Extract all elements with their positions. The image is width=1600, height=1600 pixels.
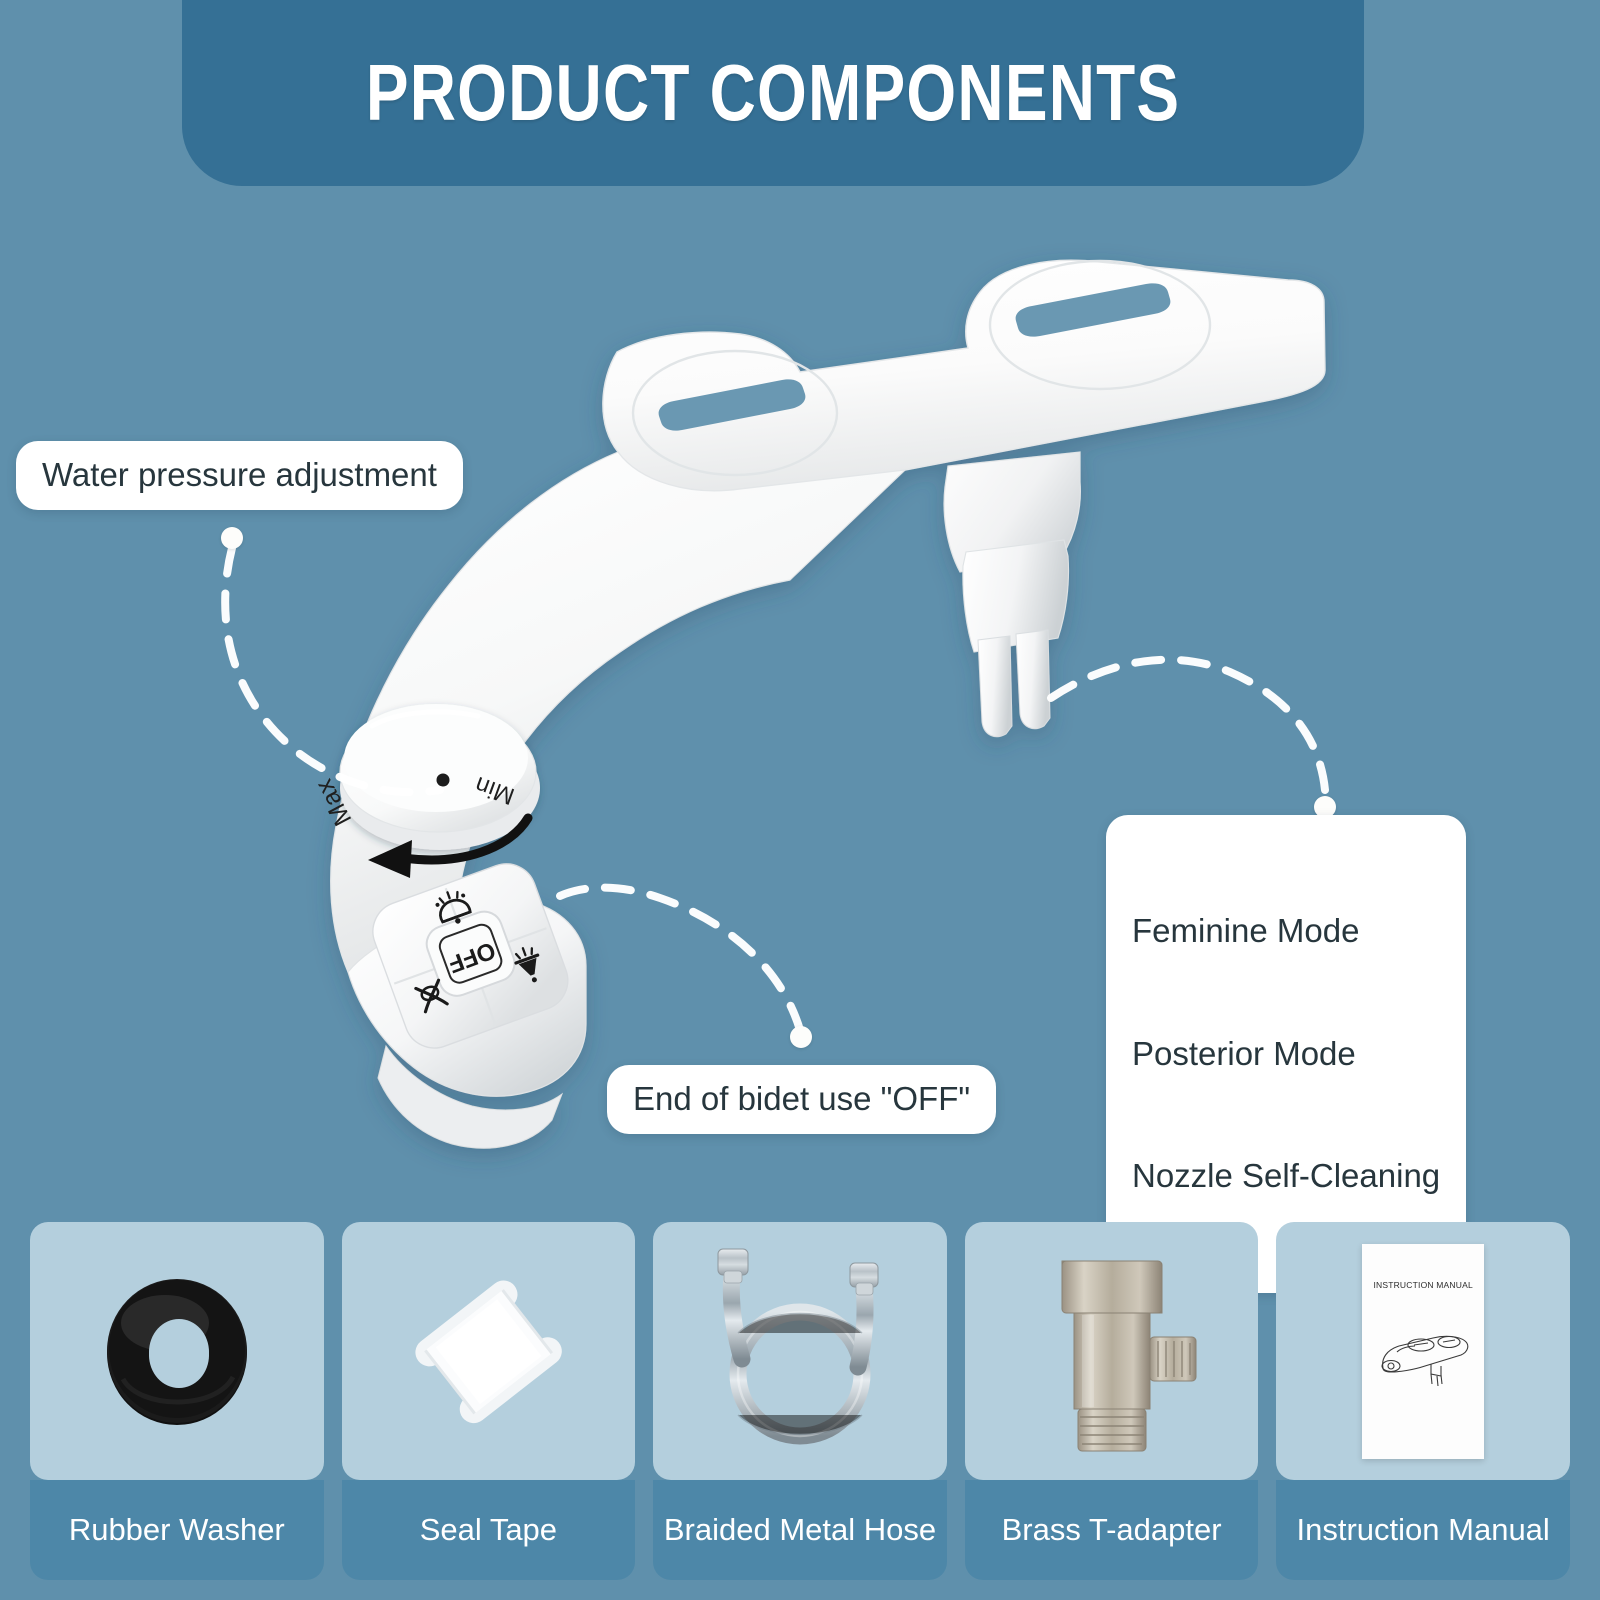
component-card-brass-adapter[interactable]: Brass T-adapter — [965, 1222, 1259, 1582]
callout-modes-line1: Feminine Mode — [1132, 911, 1440, 952]
connector-dot-pressure — [221, 527, 243, 549]
component-label-strip-brass-adapter: Brass T-adapter — [965, 1480, 1259, 1580]
brass-adapter-art — [1012, 1239, 1212, 1464]
component-image-seal-tape — [342, 1222, 636, 1480]
component-image-instruction-manual: INSTRUCTION MANUAL — [1276, 1222, 1570, 1480]
manual-cover-title: INSTRUCTION MANUAL — [1373, 1280, 1472, 1290]
manual-cover: INSTRUCTION MANUAL — [1362, 1244, 1484, 1459]
callout-end-of-bidet-use: End of bidet use "OFF" — [607, 1065, 996, 1134]
nozzle-right — [1016, 630, 1050, 729]
connector-dot-off — [790, 1026, 812, 1048]
component-label-instruction-manual: Instruction Manual — [1297, 1512, 1550, 1548]
mounting-plate — [603, 260, 1325, 490]
component-image-brass-adapter — [965, 1222, 1259, 1480]
component-label-seal-tape: Seal Tape — [420, 1512, 557, 1548]
component-image-braided-hose — [653, 1222, 947, 1480]
component-label-brass-adapter: Brass T-adapter — [1002, 1512, 1222, 1548]
component-label-strip-seal-tape: Seal Tape — [342, 1480, 636, 1580]
component-label-strip-braided-hose: Braided Metal Hose — [653, 1480, 947, 1580]
nozzle-left — [978, 636, 1012, 737]
component-cards-row: Rubber Washer Sea — [30, 1222, 1570, 1582]
infographic-root: PRODUCT COMPONENTS — [0, 0, 1600, 1600]
component-card-instruction-manual[interactable]: INSTRUCTION MANUAL — [1276, 1222, 1570, 1582]
callout-water-pressure: Water pressure adjustment — [16, 441, 463, 510]
braided-hose-art — [680, 1239, 920, 1464]
component-label-rubber-washer: Rubber Washer — [69, 1512, 285, 1548]
hose-connector-right — [850, 1263, 878, 1295]
hose-connector-left — [718, 1249, 748, 1283]
component-label-strip-instruction-manual: Instruction Manual — [1276, 1480, 1570, 1580]
callout-modes-line3: Nozzle Self-Cleaning — [1132, 1156, 1440, 1197]
component-label-braided-hose: Braided Metal Hose — [664, 1512, 936, 1548]
rubber-washer-art — [77, 1251, 277, 1451]
component-card-seal-tape[interactable]: Seal Tape — [342, 1222, 636, 1582]
component-card-rubber-washer[interactable]: Rubber Washer — [30, 1222, 324, 1582]
component-card-braided-hose[interactable]: Braided Metal Hose — [653, 1222, 947, 1582]
callout-modes-line2: Posterior Mode — [1132, 1034, 1440, 1075]
manual-cover-line-drawing — [1369, 1312, 1477, 1402]
knob-indicator-dot — [437, 774, 450, 787]
seal-tape-art — [383, 1246, 593, 1456]
component-label-strip-rubber-washer: Rubber Washer — [30, 1480, 324, 1580]
component-image-rubber-washer — [30, 1222, 324, 1480]
